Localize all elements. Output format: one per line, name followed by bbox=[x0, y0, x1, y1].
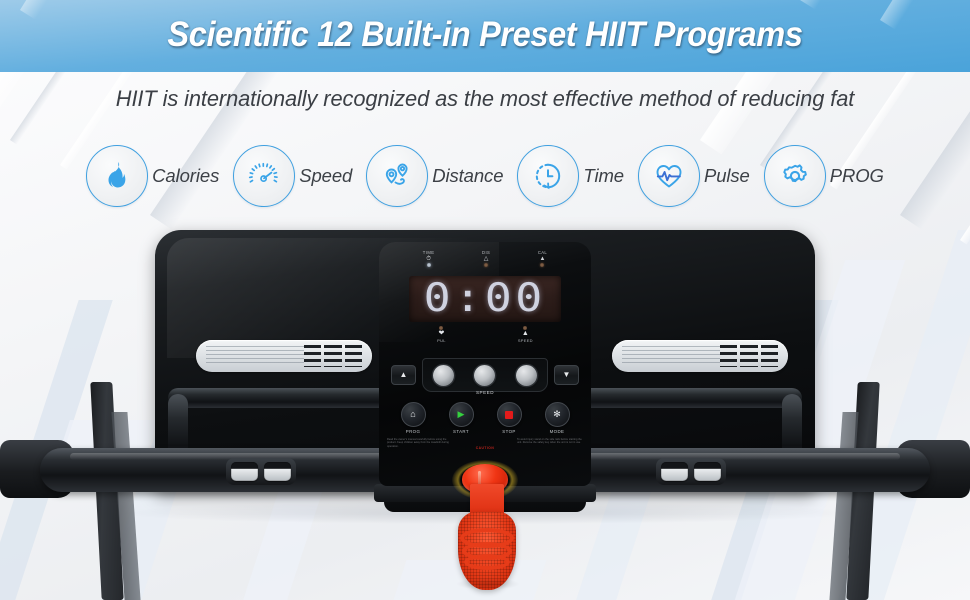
indicator-label: CAL bbox=[538, 250, 547, 255]
button-label: MODE bbox=[550, 429, 565, 434]
mode-button[interactable]: ✻ bbox=[545, 402, 570, 427]
start-button-group: ▶ START bbox=[441, 402, 481, 434]
indicator-pulse: ❤ PUL bbox=[437, 326, 446, 343]
indicator-label: PUL bbox=[437, 338, 446, 343]
fineprint-left: Read the owner's manual carefully before… bbox=[387, 438, 453, 448]
fineprint-right: To avoid injury stand on the side rails … bbox=[517, 438, 583, 445]
control-console: TIME ⏱ DIS △ CAL ▲ 0:00 bbox=[379, 242, 591, 486]
start-button[interactable]: ▶ bbox=[449, 402, 474, 427]
page-subtitle: HIIT is internationally recognized as th… bbox=[15, 72, 956, 126]
feature-item-prog: PROG bbox=[764, 145, 884, 207]
indicator-calories: CAL ▲ bbox=[538, 250, 547, 267]
treadmill-product-image: TIME ⏱ DIS △ CAL ▲ 0:00 bbox=[0, 212, 970, 600]
preset-speed-buttons bbox=[422, 358, 548, 392]
play-icon: ▶ bbox=[458, 410, 465, 419]
button-label: PROG bbox=[406, 429, 421, 434]
distance-icon: △ bbox=[484, 256, 489, 262]
button-label: STOP bbox=[502, 429, 515, 434]
handlebar-switches-right[interactable] bbox=[656, 458, 726, 485]
clock-icon bbox=[517, 145, 579, 207]
speed-down-button[interactable]: ▼ bbox=[554, 365, 579, 385]
switch-key[interactable] bbox=[694, 462, 721, 481]
subtitle-band: HIIT is internationally recognized as th… bbox=[0, 72, 970, 126]
home-icon: ⌂ bbox=[410, 410, 415, 419]
stop-square-icon bbox=[505, 411, 513, 419]
feature-item-speed: Speed bbox=[233, 145, 352, 207]
header-band: Scientific 12 Built-in Preset HIIT Progr… bbox=[0, 0, 970, 72]
feature-label: PROG bbox=[830, 165, 884, 187]
grille-vents bbox=[304, 345, 362, 367]
feature-icon-row: Calories bbox=[0, 133, 970, 219]
feature-item-distance: Distance bbox=[366, 145, 503, 207]
heart-pulse-icon bbox=[638, 145, 700, 207]
caution-label: CAUTION bbox=[460, 438, 510, 450]
indicator-time: TIME ⏱ bbox=[423, 250, 435, 267]
map-pin-route-icon bbox=[366, 145, 428, 207]
heart-icon: ❤ bbox=[439, 330, 445, 338]
runner-icon: ▲ bbox=[522, 330, 529, 338]
indicator-label: TIME bbox=[423, 250, 435, 255]
snowflake-icon: ✻ bbox=[553, 410, 561, 419]
prog-button[interactable]: ⌂ bbox=[401, 402, 426, 427]
button-label: START bbox=[453, 429, 469, 434]
grille-vents bbox=[720, 345, 778, 367]
indicator-distance: DIS △ bbox=[482, 250, 490, 267]
preset-speed-button[interactable] bbox=[516, 365, 537, 386]
function-button-row: ⌂ PROG ▶ START STOP bbox=[393, 402, 577, 434]
feature-item-pulse: Pulse bbox=[638, 145, 750, 207]
feature-label: Calories bbox=[152, 165, 219, 187]
preset-speed-button[interactable] bbox=[433, 365, 454, 386]
preset-speed-button[interactable] bbox=[474, 365, 495, 386]
indicator-speed: ▲ SPEED bbox=[518, 326, 533, 343]
indicator-led bbox=[427, 263, 431, 267]
speaker-grille-right bbox=[612, 340, 788, 372]
stop-button[interactable] bbox=[497, 402, 522, 427]
mode-button-group: ✻ MODE bbox=[537, 402, 577, 434]
grille-texture bbox=[622, 346, 720, 366]
feature-item-time: Time bbox=[517, 145, 624, 207]
prog-button-group: ⌂ PROG bbox=[393, 402, 433, 434]
console-top-indicators: TIME ⏱ DIS △ CAL ▲ bbox=[379, 250, 591, 267]
indicator-label: SPEED bbox=[518, 338, 533, 343]
lcd-display: 0:00 bbox=[409, 276, 561, 322]
handlebar-switches-left[interactable] bbox=[226, 458, 296, 485]
feature-label: Speed bbox=[299, 165, 352, 187]
speaker-grille-left bbox=[196, 340, 372, 372]
speed-control-row: ▲ ▼ bbox=[391, 358, 579, 392]
speedometer-icon bbox=[233, 145, 295, 207]
safety-cord-loop bbox=[464, 554, 510, 570]
switch-key[interactable] bbox=[264, 462, 291, 481]
speed-up-button[interactable]: ▲ bbox=[391, 365, 416, 385]
flame-icon: ▲ bbox=[540, 256, 546, 262]
cord-shadow bbox=[456, 578, 520, 590]
feature-label: Pulse bbox=[704, 165, 750, 187]
promo-banner: Scientific 12 Built-in Preset HIIT Progr… bbox=[0, 0, 970, 600]
page-title: Scientific 12 Built-in Preset HIIT Progr… bbox=[34, 0, 936, 72]
speed-group-label: SPEED bbox=[379, 390, 591, 395]
indicator-label: DIS bbox=[482, 250, 490, 255]
feature-label: Distance bbox=[432, 165, 503, 187]
gear-icon bbox=[764, 145, 826, 207]
switch-key[interactable] bbox=[661, 462, 688, 481]
feature-item-calories: Calories bbox=[86, 145, 219, 207]
indicator-led bbox=[484, 263, 488, 267]
console-mid-indicators: ❤ PUL ▲ SPEED bbox=[379, 326, 591, 343]
feature-label: Time bbox=[583, 165, 624, 187]
clock-icon: ⏱ bbox=[426, 256, 431, 262]
indicator-led bbox=[540, 263, 544, 267]
stop-button-group: STOP bbox=[489, 402, 529, 434]
switch-key[interactable] bbox=[231, 462, 258, 481]
flame-icon bbox=[86, 145, 148, 207]
lcd-value: 0:00 bbox=[424, 278, 546, 320]
grille-texture bbox=[206, 346, 304, 366]
